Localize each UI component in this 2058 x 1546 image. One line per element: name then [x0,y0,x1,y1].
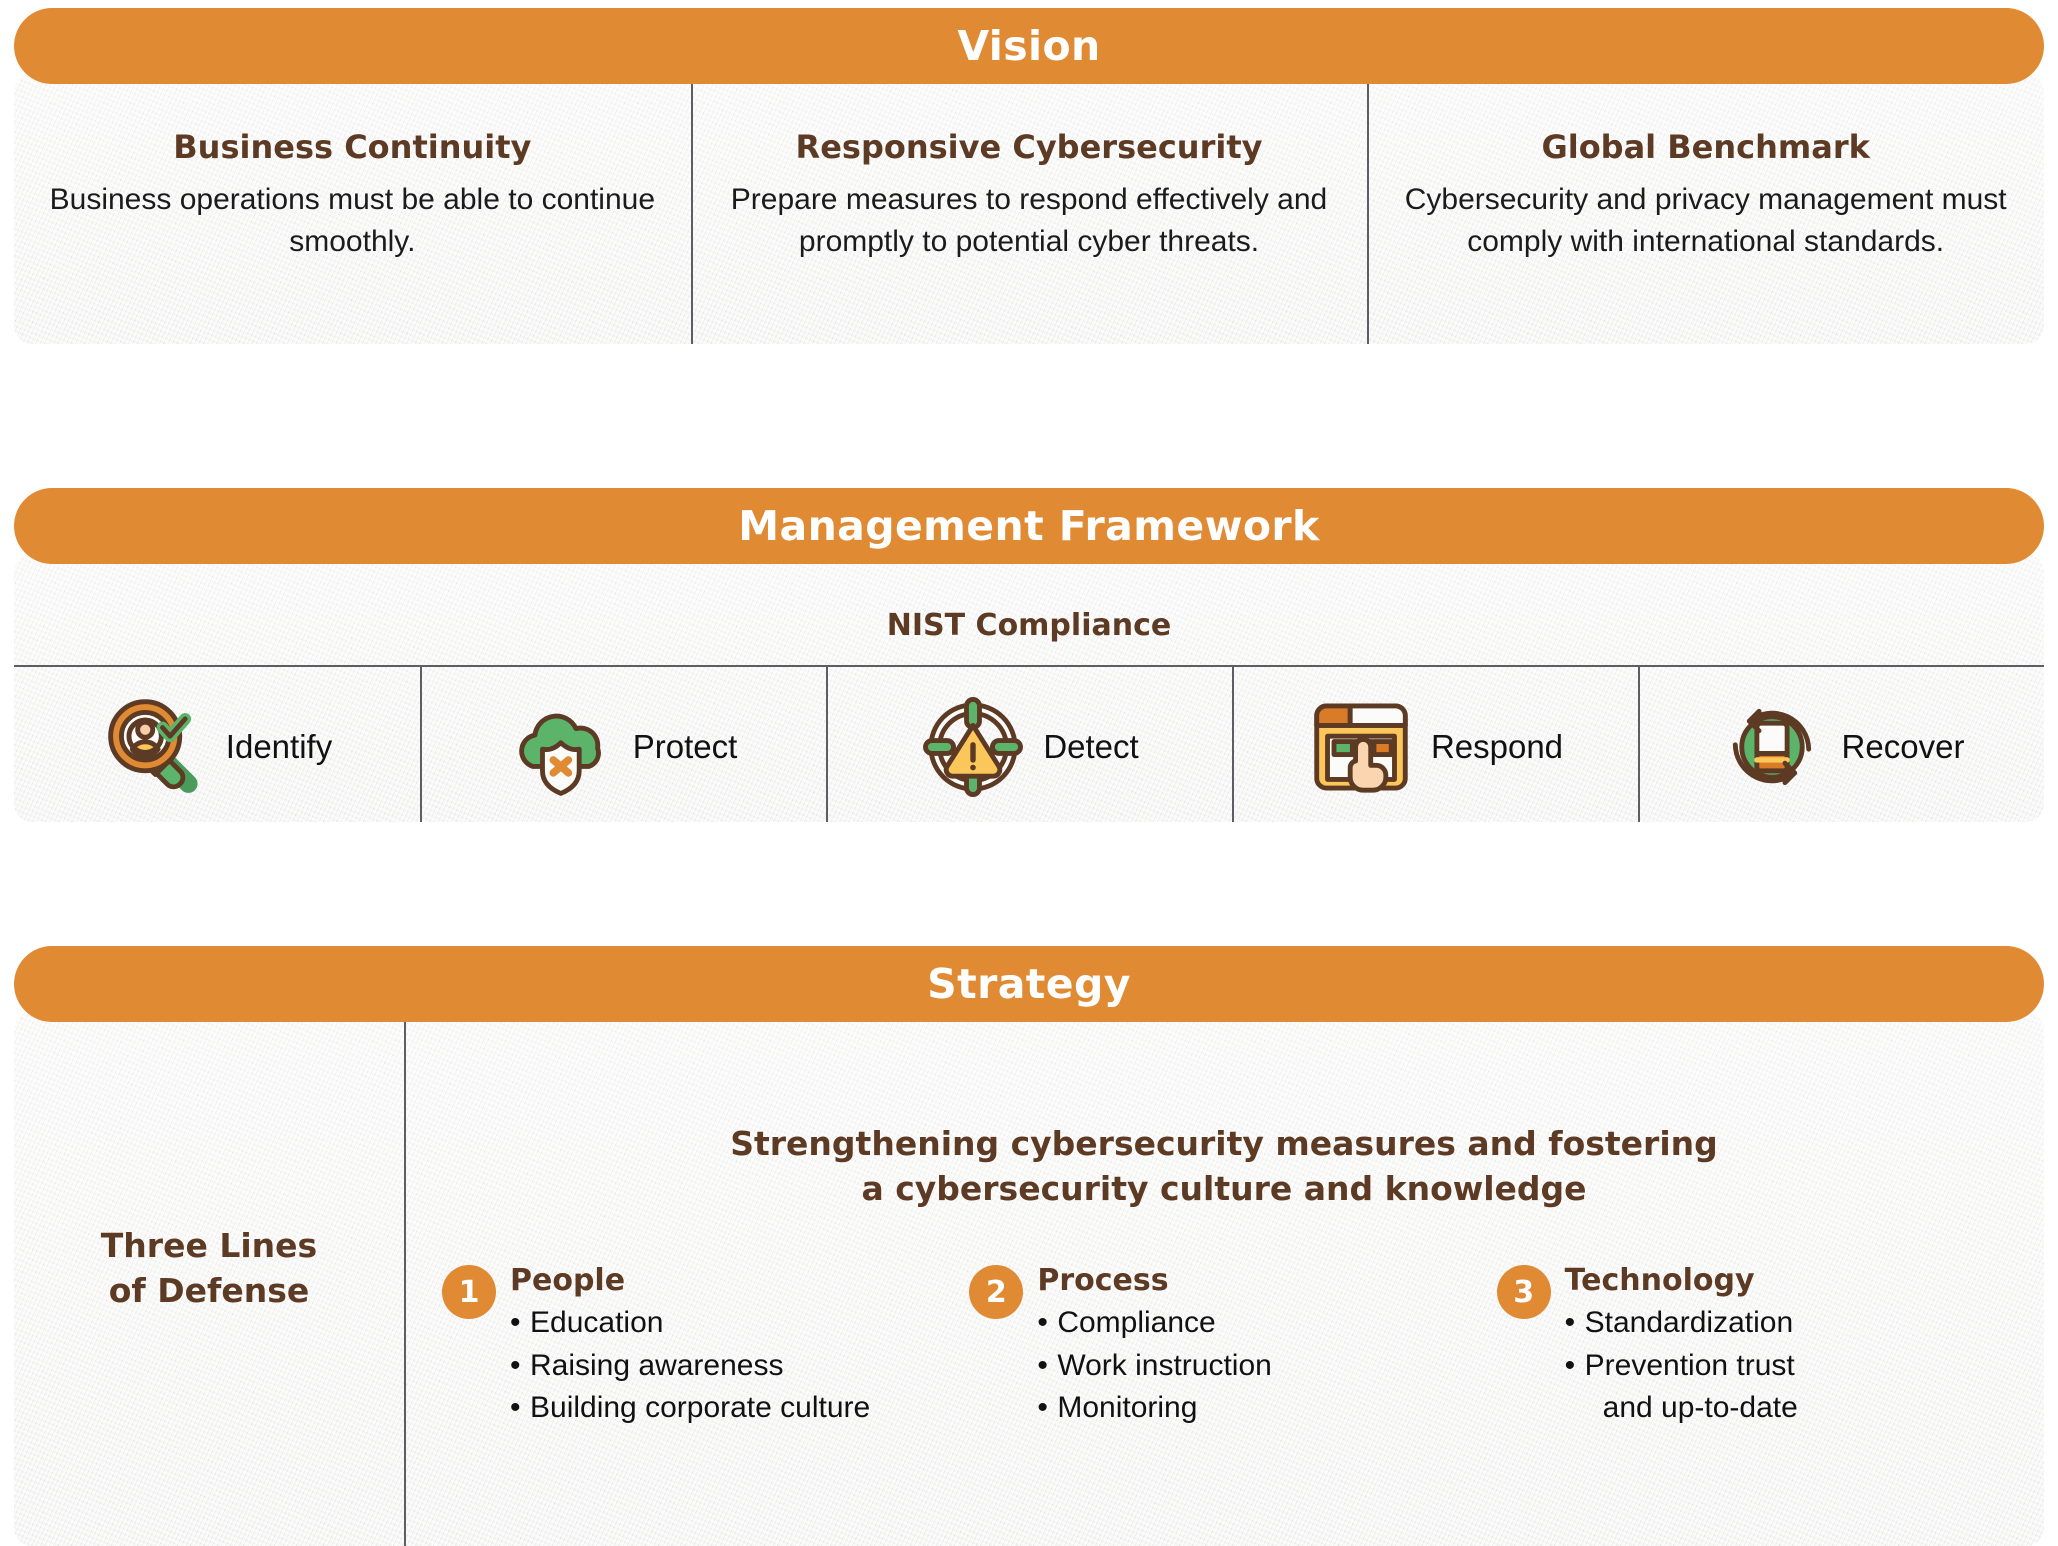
framework-panel: NIST Compliance [14,554,2044,822]
framework-band: Management Framework [14,488,2044,564]
strategy-headline: Strengthening cybersecurity measures and… [424,1022,2024,1211]
vision-column-body: Prepare measures to respond effectively … [725,179,1334,262]
magnifier-person-check-icon [102,693,210,801]
list-item: Monitoring [1037,1387,1272,1430]
strategy-content: Strengthening cybersecurity measures and… [404,1022,2044,1546]
vision-section: Vision Business Continuity Business oper… [14,8,2044,344]
vision-column-title: Global Benchmark [1401,130,2010,165]
vision-band-title: Vision [957,26,1100,67]
list-item: Building corporate culture [510,1387,870,1430]
vision-column-business-continuity: Business Continuity Business operations … [14,84,691,344]
nist-function-protect[interactable]: Protect [420,667,826,822]
vision-band: Vision [14,8,2044,84]
strategy-panel: Three Lines of Defense Strengthening cyb… [14,1012,2044,1546]
pillar-number-badge: 1 [442,1265,496,1319]
nist-function-label: Detect [1043,728,1138,766]
framework-band-title: Management Framework [738,506,1319,547]
strategy-pillars: 1 People Education Raising awareness Bui… [424,1263,2024,1430]
three-lines-of-defense-block: Three Lines of Defense [14,1022,404,1546]
nist-function-recover[interactable]: Recover [1638,667,2044,822]
nist-function-label: Identify [226,728,332,766]
list-item: Compliance [1037,1302,1272,1345]
vision-column-global-benchmark: Global Benchmark Cybersecurity and priva… [1367,84,2044,344]
pillar-title: Process [1037,1263,1272,1298]
strategy-pillar-technology: 3 Technology Standardization Prevention … [1497,1263,2024,1430]
three-lines-of-defense-label: Three Lines of Defense [101,1224,317,1313]
pillar-item-list: Standardization Prevention trust and up-… [1565,1302,1798,1430]
pillar-item-list: Education Raising awareness Building cor… [510,1302,870,1430]
pillar-number-badge: 3 [1497,1265,1551,1319]
strategy-pillar-people: 1 People Education Raising awareness Bui… [442,1263,969,1430]
crosshair-warning-icon [919,693,1027,801]
nist-function-label: Protect [633,728,738,766]
strategy-pillar-process: 2 Process Compliance Work instruction Mo… [969,1263,1496,1430]
vision-panel: Business Continuity Business operations … [14,74,2044,344]
strategy-headline-line-2: a cybersecurity culture and knowledge [464,1167,1984,1212]
refresh-device-icon [1718,693,1826,801]
list-item: and up-to-date [1565,1387,1798,1430]
vision-column-title: Responsive Cybersecurity [725,130,1334,165]
nist-function-label: Recover [1842,728,1965,766]
nist-function-identify[interactable]: Identify [14,667,420,822]
pillar-item-list: Compliance Work instruction Monitoring [1037,1302,1272,1430]
vision-column-body: Business operations must be able to cont… [48,179,657,262]
tlod-line2: of Defense [109,1271,310,1310]
pillar-number-badge: 2 [969,1265,1023,1319]
nist-function-respond[interactable]: Respond [1232,667,1638,822]
strategy-band: Strategy [14,946,2044,1022]
nist-function-label: Respond [1431,728,1563,766]
pillar-title: People [510,1263,870,1298]
infographic-page: Vision Business Continuity Business oper… [0,0,2058,1488]
strategy-band-title: Strategy [927,964,1131,1005]
management-framework-section: Management Framework NIST Compliance [14,488,2044,822]
nist-compliance-subtitle: NIST Compliance [14,564,2044,665]
list-item: Education [510,1302,870,1345]
vision-column-responsive-cybersecurity: Responsive Cybersecurity Prepare measure… [691,84,1368,344]
list-item: Raising awareness [510,1345,870,1388]
cloud-shield-icon [509,693,617,801]
vision-column-body: Cybersecurity and privacy management mus… [1401,179,2010,262]
vision-column-title: Business Continuity [48,130,657,165]
list-item: Standardization [1565,1302,1798,1345]
browser-click-icon [1307,693,1415,801]
list-item: Prevention trust [1565,1345,1798,1388]
strategy-section: Strategy Three Lines of Defense Strength… [14,946,2044,1546]
tlod-line1: Three Lines [101,1226,317,1265]
nist-function-detect[interactable]: Detect [826,667,1232,822]
pillar-title: Technology [1565,1263,1798,1298]
strategy-headline-line-1: Strengthening cybersecurity measures and… [464,1122,1984,1167]
list-item: Work instruction [1037,1345,1272,1388]
nist-functions-row: Identify Protect [14,667,2044,822]
